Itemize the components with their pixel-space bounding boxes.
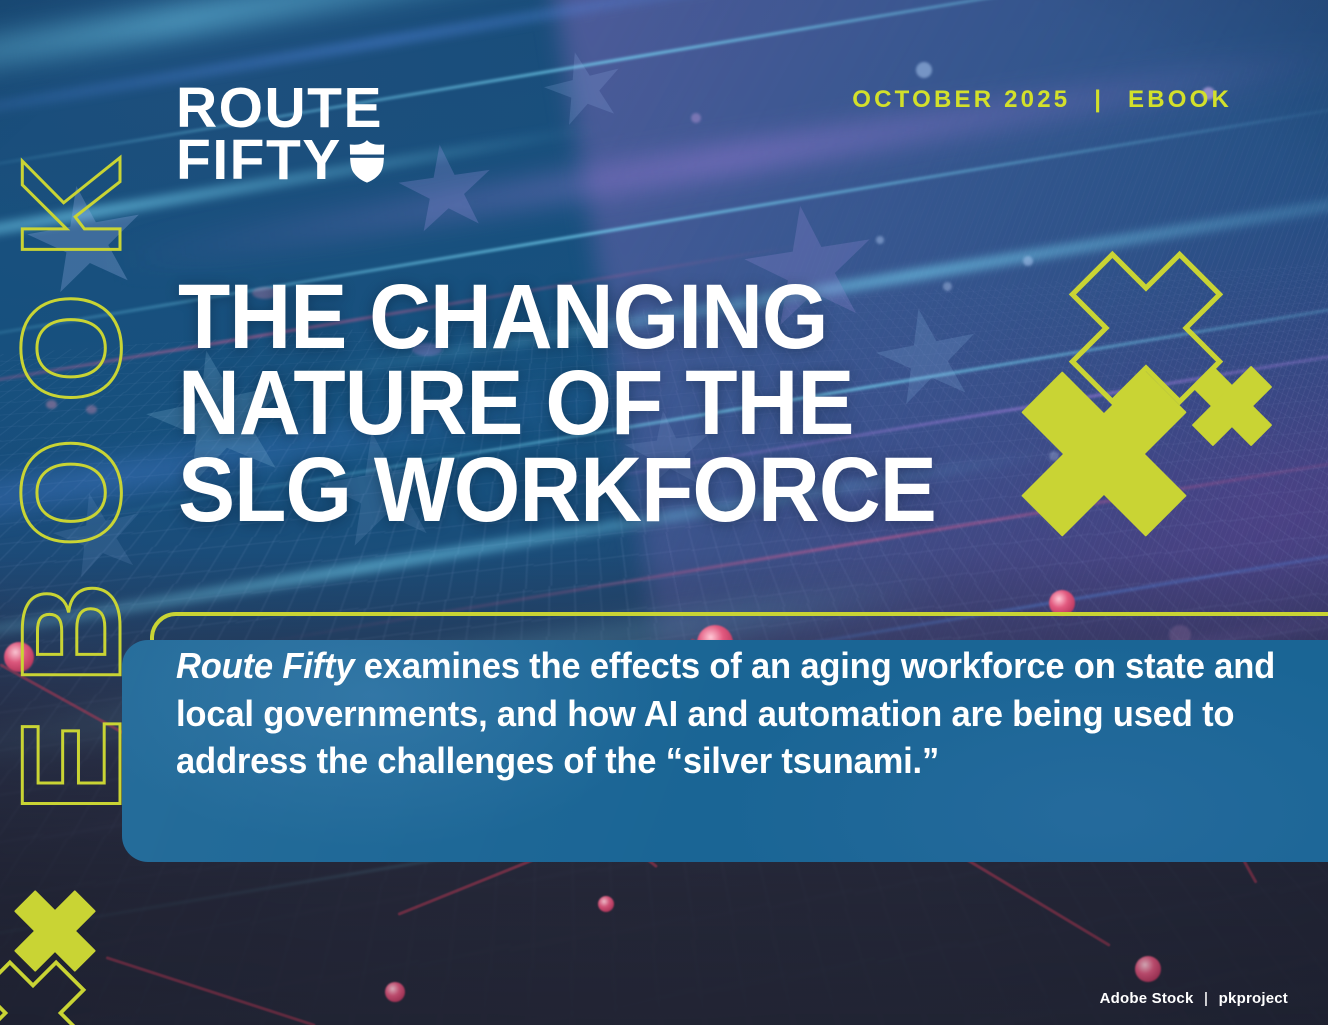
credit-source: Adobe Stock xyxy=(1100,990,1194,1007)
x-outline-corner-icon xyxy=(0,958,88,1025)
highway-shield-icon xyxy=(344,138,390,184)
page-title: THE CHANGING NATURE OF THE SLG WORKFORCE xyxy=(178,274,959,533)
image-credit: Adobe Stock | pkproject xyxy=(1100,990,1288,1007)
issue-date: OCTOBER 2025 xyxy=(852,86,1070,113)
logo-line-route: ROUTE xyxy=(176,82,390,134)
credit-separator: | xyxy=(1198,990,1214,1007)
x-solid-icon xyxy=(1018,368,1190,540)
issue-kicker: OCTOBER 2025 | EBOOK xyxy=(852,86,1232,114)
issue-type: EBOOK xyxy=(1128,86,1232,113)
headline-line-3: SLG WORKFORCE xyxy=(178,447,959,533)
deck-text: Route Fifty examines the effects of an a… xyxy=(176,642,1295,785)
x-solid-small-icon xyxy=(1192,366,1272,446)
deck-italic-lead: Route Fifty xyxy=(176,645,354,686)
ebook-cover: EBOOK ROUTE FIFTY xyxy=(0,0,1328,1025)
logo-line-fifty: FIFTY xyxy=(176,134,342,186)
kicker-separator: | xyxy=(1080,86,1118,113)
credit-artist: pkproject xyxy=(1219,990,1288,1007)
headline-line-1: THE CHANGING xyxy=(178,274,959,360)
headline-line-2: NATURE OF THE xyxy=(178,360,959,446)
deck-callout: Route Fifty examines the effects of an a… xyxy=(122,612,1328,862)
route-fifty-logo[interactable]: ROUTE FIFTY xyxy=(176,82,390,187)
